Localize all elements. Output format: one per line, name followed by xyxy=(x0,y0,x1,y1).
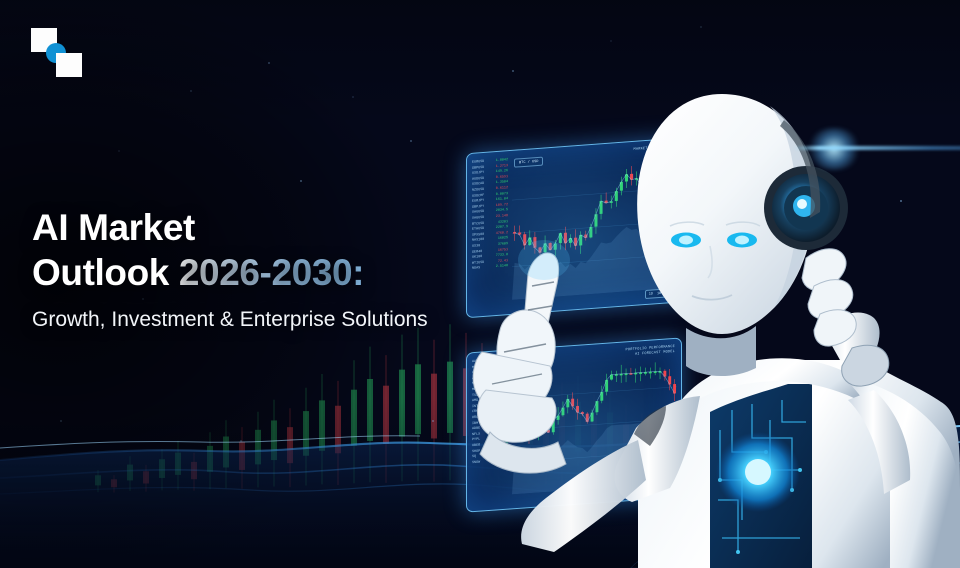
title-text-1: AI Market xyxy=(32,207,195,248)
title-text-2: Outlook xyxy=(32,252,179,293)
logo-square-bottom xyxy=(56,53,82,77)
page-subtitle: Growth, Investment & Enterprise Solution… xyxy=(32,305,452,334)
page-title-line-2: Outlook 2026-2030: xyxy=(32,250,452,295)
title-year-range: 2026-2030: xyxy=(179,252,364,293)
humanoid-robot xyxy=(470,60,960,568)
hero-copy: AI Market Outlook 2026-2030: Growth, Inv… xyxy=(32,205,452,334)
hero-banner: AI Market Outlook 2026-2030: Growth, Inv… xyxy=(0,0,960,568)
lens-flare-streak xyxy=(793,146,960,150)
page-title-line-1: AI Market xyxy=(32,205,452,250)
brand-logo[interactable] xyxy=(31,28,83,78)
